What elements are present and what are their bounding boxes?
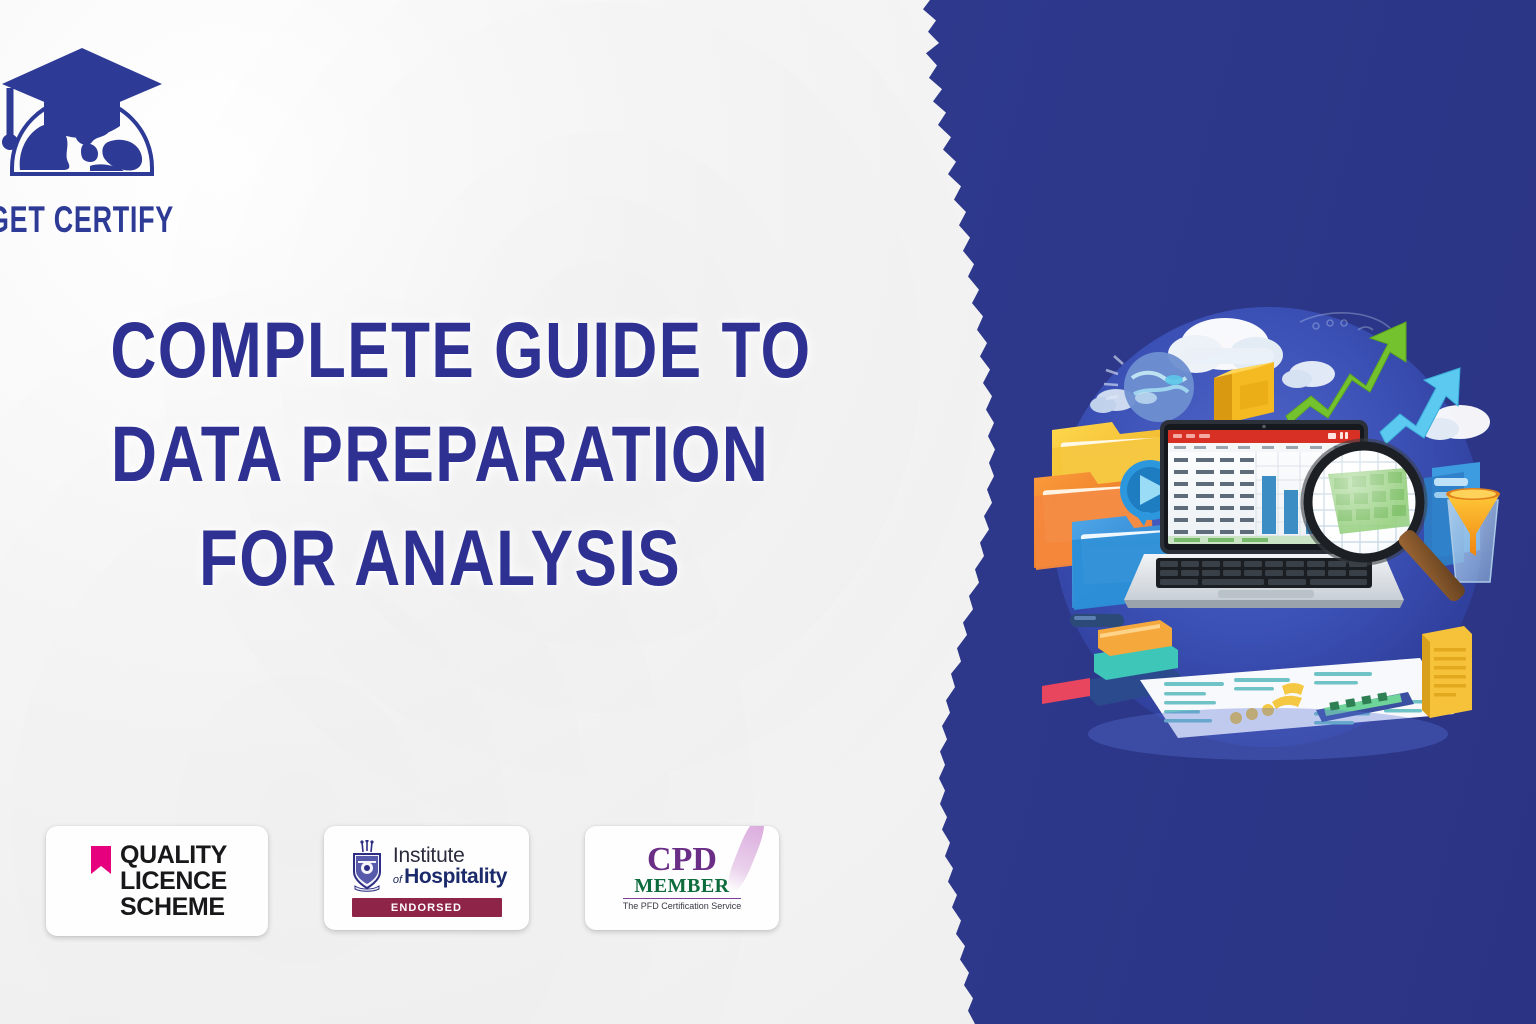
qls-line-1: QUALITY <box>120 842 227 868</box>
bookmark-icon <box>91 846 111 874</box>
logo-wordmark: GET CERTIFY <box>0 199 174 233</box>
ioh-hospitality-label: Hospitality <box>404 866 507 887</box>
cpd-title: CPD <box>647 844 717 876</box>
accreditation-badges: QUALITY LICENCE SCHEME <box>46 826 779 936</box>
data-analysis-illustration <box>1028 282 1518 772</box>
funnel <box>1446 488 1500 582</box>
page-title: COMPLETE GUIDE TO DATA PREPARATION FOR A… <box>120 312 760 582</box>
banner-root: GET CERTIFY COMPLETE GUIDE TO DATA PREPA… <box>0 0 1536 1024</box>
badge-institute-of-hospitality[interactable]: Institute of Hospitality ENDORSED <box>324 826 529 930</box>
cpd-caption: The PFD Certification Service <box>623 901 742 912</box>
globe-sphere <box>1124 352 1194 422</box>
stylus-pen <box>1070 614 1124 627</box>
qls-line-2: LICENCE <box>120 868 227 894</box>
headline-line-3: FOR ANALYSIS <box>110 520 769 599</box>
cpd-divider <box>623 898 741 899</box>
ioh-endorsed-banner: ENDORSED <box>352 898 502 917</box>
qls-line-3: SCHEME <box>120 894 227 920</box>
graduation-cap-globe-icon <box>2 48 162 174</box>
ioh-institute-label: Institute <box>393 845 507 866</box>
cpd-subtitle: MEMBER <box>634 876 729 896</box>
heraldic-crest-icon <box>346 840 388 892</box>
headline-line-1: COMPLETE GUIDE TO <box>110 312 769 391</box>
yellow-document <box>1422 626 1472 718</box>
badge-quality-licence-scheme[interactable]: QUALITY LICENCE SCHEME <box>46 826 268 936</box>
get-certify-logo[interactable]: GET CERTIFY <box>0 18 199 233</box>
badge-cpd-member[interactable]: CPD MEMBER The PFD Certification Service <box>585 826 779 930</box>
headline-line-2: DATA PREPARATION <box>110 416 769 495</box>
ground-glow <box>1088 708 1448 760</box>
ioh-of-label: of <box>393 875 402 886</box>
